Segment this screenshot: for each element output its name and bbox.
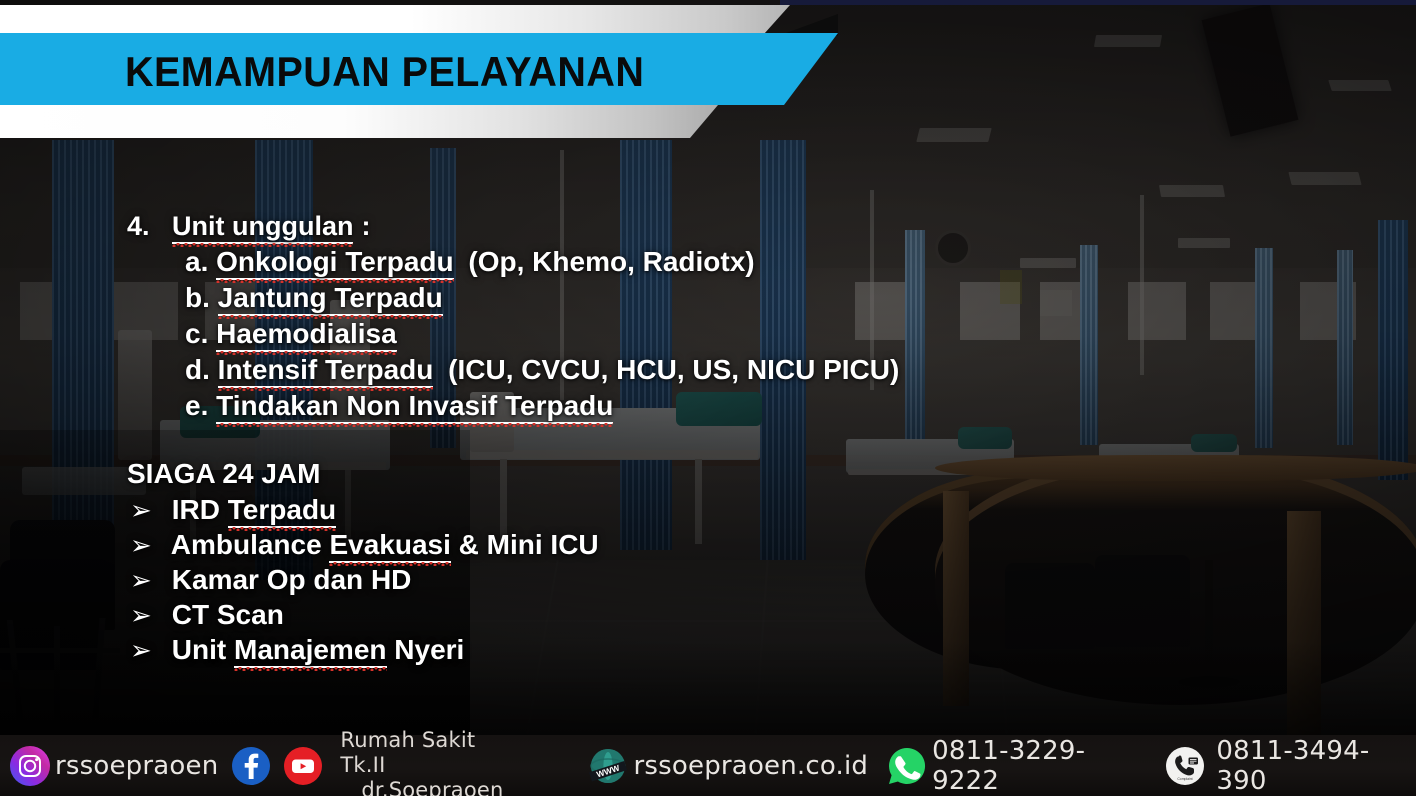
bullet-item: ➢ Ambulance Evakuasi & Mini ICU (130, 529, 599, 563)
sub-item: a. Onkologi Terpadu (Op, Khemo, Radiotx) (185, 246, 755, 280)
whatsapp-number[interactable]: 0811-3229-9222 (932, 736, 1148, 796)
section-title: Unit unggulan: (172, 211, 370, 244)
facebook-icon[interactable] (230, 745, 272, 787)
arrow-bullet-icon: ➢ (130, 495, 164, 526)
website-url[interactable]: rssoepraoen.co.id (634, 751, 869, 781)
instagram-contact[interactable]: rssoepraoen (8, 735, 218, 796)
bullet-post: Nyeri (387, 634, 465, 665)
sub-item: b. Jantung Terpadu (185, 282, 443, 316)
phone-contact[interactable]: Complaint 0811-3494-390 (1164, 735, 1416, 796)
bullet-post: & Mini ICU (451, 529, 599, 560)
youtube-contact[interactable] (282, 735, 324, 796)
standby-heading: SIAGA 24 JAM (127, 458, 320, 490)
youtube-icon[interactable] (282, 745, 324, 787)
bullet-item: ➢ CT Scan (130, 599, 284, 631)
bullet-item: ➢ Unit Manajemen Nyeri (130, 634, 464, 668)
sub-item-emphasis: Onkologi Terpadu (216, 246, 453, 280)
sub-item-marker: b. (185, 282, 210, 313)
sub-item-rest: (Op, Khemo, Radiotx) (461, 246, 754, 277)
sub-item: e. Tindakan Non Invasif Terpadu (185, 390, 613, 424)
svg-text:Complaint: Complaint (1178, 776, 1193, 780)
phone-number[interactable]: 0811-3494-390 (1216, 736, 1416, 796)
sub-item-marker: d. (185, 354, 210, 385)
contact-footer-bar: rssoepraoen Rumah Sakit Tk.II dr.Soeprao… (0, 735, 1416, 796)
sub-item-marker: e. (185, 390, 208, 421)
hospital-name: Rumah Sakit Tk.II dr.Soepraoen (340, 735, 524, 796)
sub-item-rest: (ICU, CVCU, HCU, US, NICU PICU) (441, 354, 899, 385)
sub-item-emphasis: Haemodialisa (216, 318, 397, 352)
phone-call-icon[interactable]: Complaint (1164, 745, 1206, 787)
sub-item: d. Intensif Terpadu (ICU, CVCU, HCU, US,… (185, 354, 899, 388)
bullet-item: ➢ Kamar Op dan HD (130, 564, 411, 596)
bullet-pre: Kamar Op dan HD (172, 564, 412, 595)
hospital-name-line2: dr.Soepraoen (361, 778, 503, 796)
sub-item: c. Haemodialisa (185, 318, 397, 352)
arrow-bullet-icon: ➢ (130, 600, 164, 631)
sub-item-emphasis: Intensif Terpadu (218, 354, 434, 388)
whatsapp-contact[interactable]: 0811-3229-9222 (886, 735, 1148, 796)
facebook-contact[interactable] (230, 735, 272, 796)
instagram-handle[interactable]: rssoepraoen (55, 751, 218, 781)
slide-canvas: KEMAMPUAN PELAYANAN 4. Unit unggulan: a.… (0, 0, 1416, 796)
globe-www-icon[interactable]: WWW (587, 745, 629, 787)
website-contact[interactable]: WWW rssoepraoen.co.id (587, 735, 869, 796)
instagram-icon[interactable] (8, 744, 52, 788)
bullet-pre: IRD (172, 494, 228, 525)
arrow-bullet-icon: ➢ (130, 635, 164, 666)
list-number: 4. (127, 211, 150, 242)
bullet-emphasis: Evakuasi (329, 529, 450, 563)
slide-body: 4. Unit unggulan: a. Onkologi Terpadu (O… (0, 0, 1416, 745)
bullet-pre: Unit (172, 634, 234, 665)
sub-item-marker: a. (185, 246, 208, 277)
bullet-pre: CT Scan (172, 599, 284, 630)
section-title-colon: : (353, 211, 370, 241)
bullet-emphasis: Terpadu (228, 494, 336, 528)
bullet-emphasis: Manajemen (234, 634, 387, 668)
hospital-name-line1: Rumah Sakit Tk.II (340, 728, 524, 778)
bullet-pre: Ambulance (171, 529, 330, 560)
section-title-text: Unit unggulan (172, 211, 353, 244)
sub-item-emphasis: Tindakan Non Invasif Terpadu (216, 390, 613, 424)
arrow-bullet-icon: ➢ (130, 565, 164, 596)
whatsapp-icon[interactable] (886, 745, 928, 787)
bullet-item: ➢ IRD Terpadu (130, 494, 336, 528)
arrow-bullet-icon: ➢ (130, 530, 164, 561)
sub-item-marker: c. (185, 318, 208, 349)
sub-item-emphasis: Jantung Terpadu (218, 282, 443, 316)
